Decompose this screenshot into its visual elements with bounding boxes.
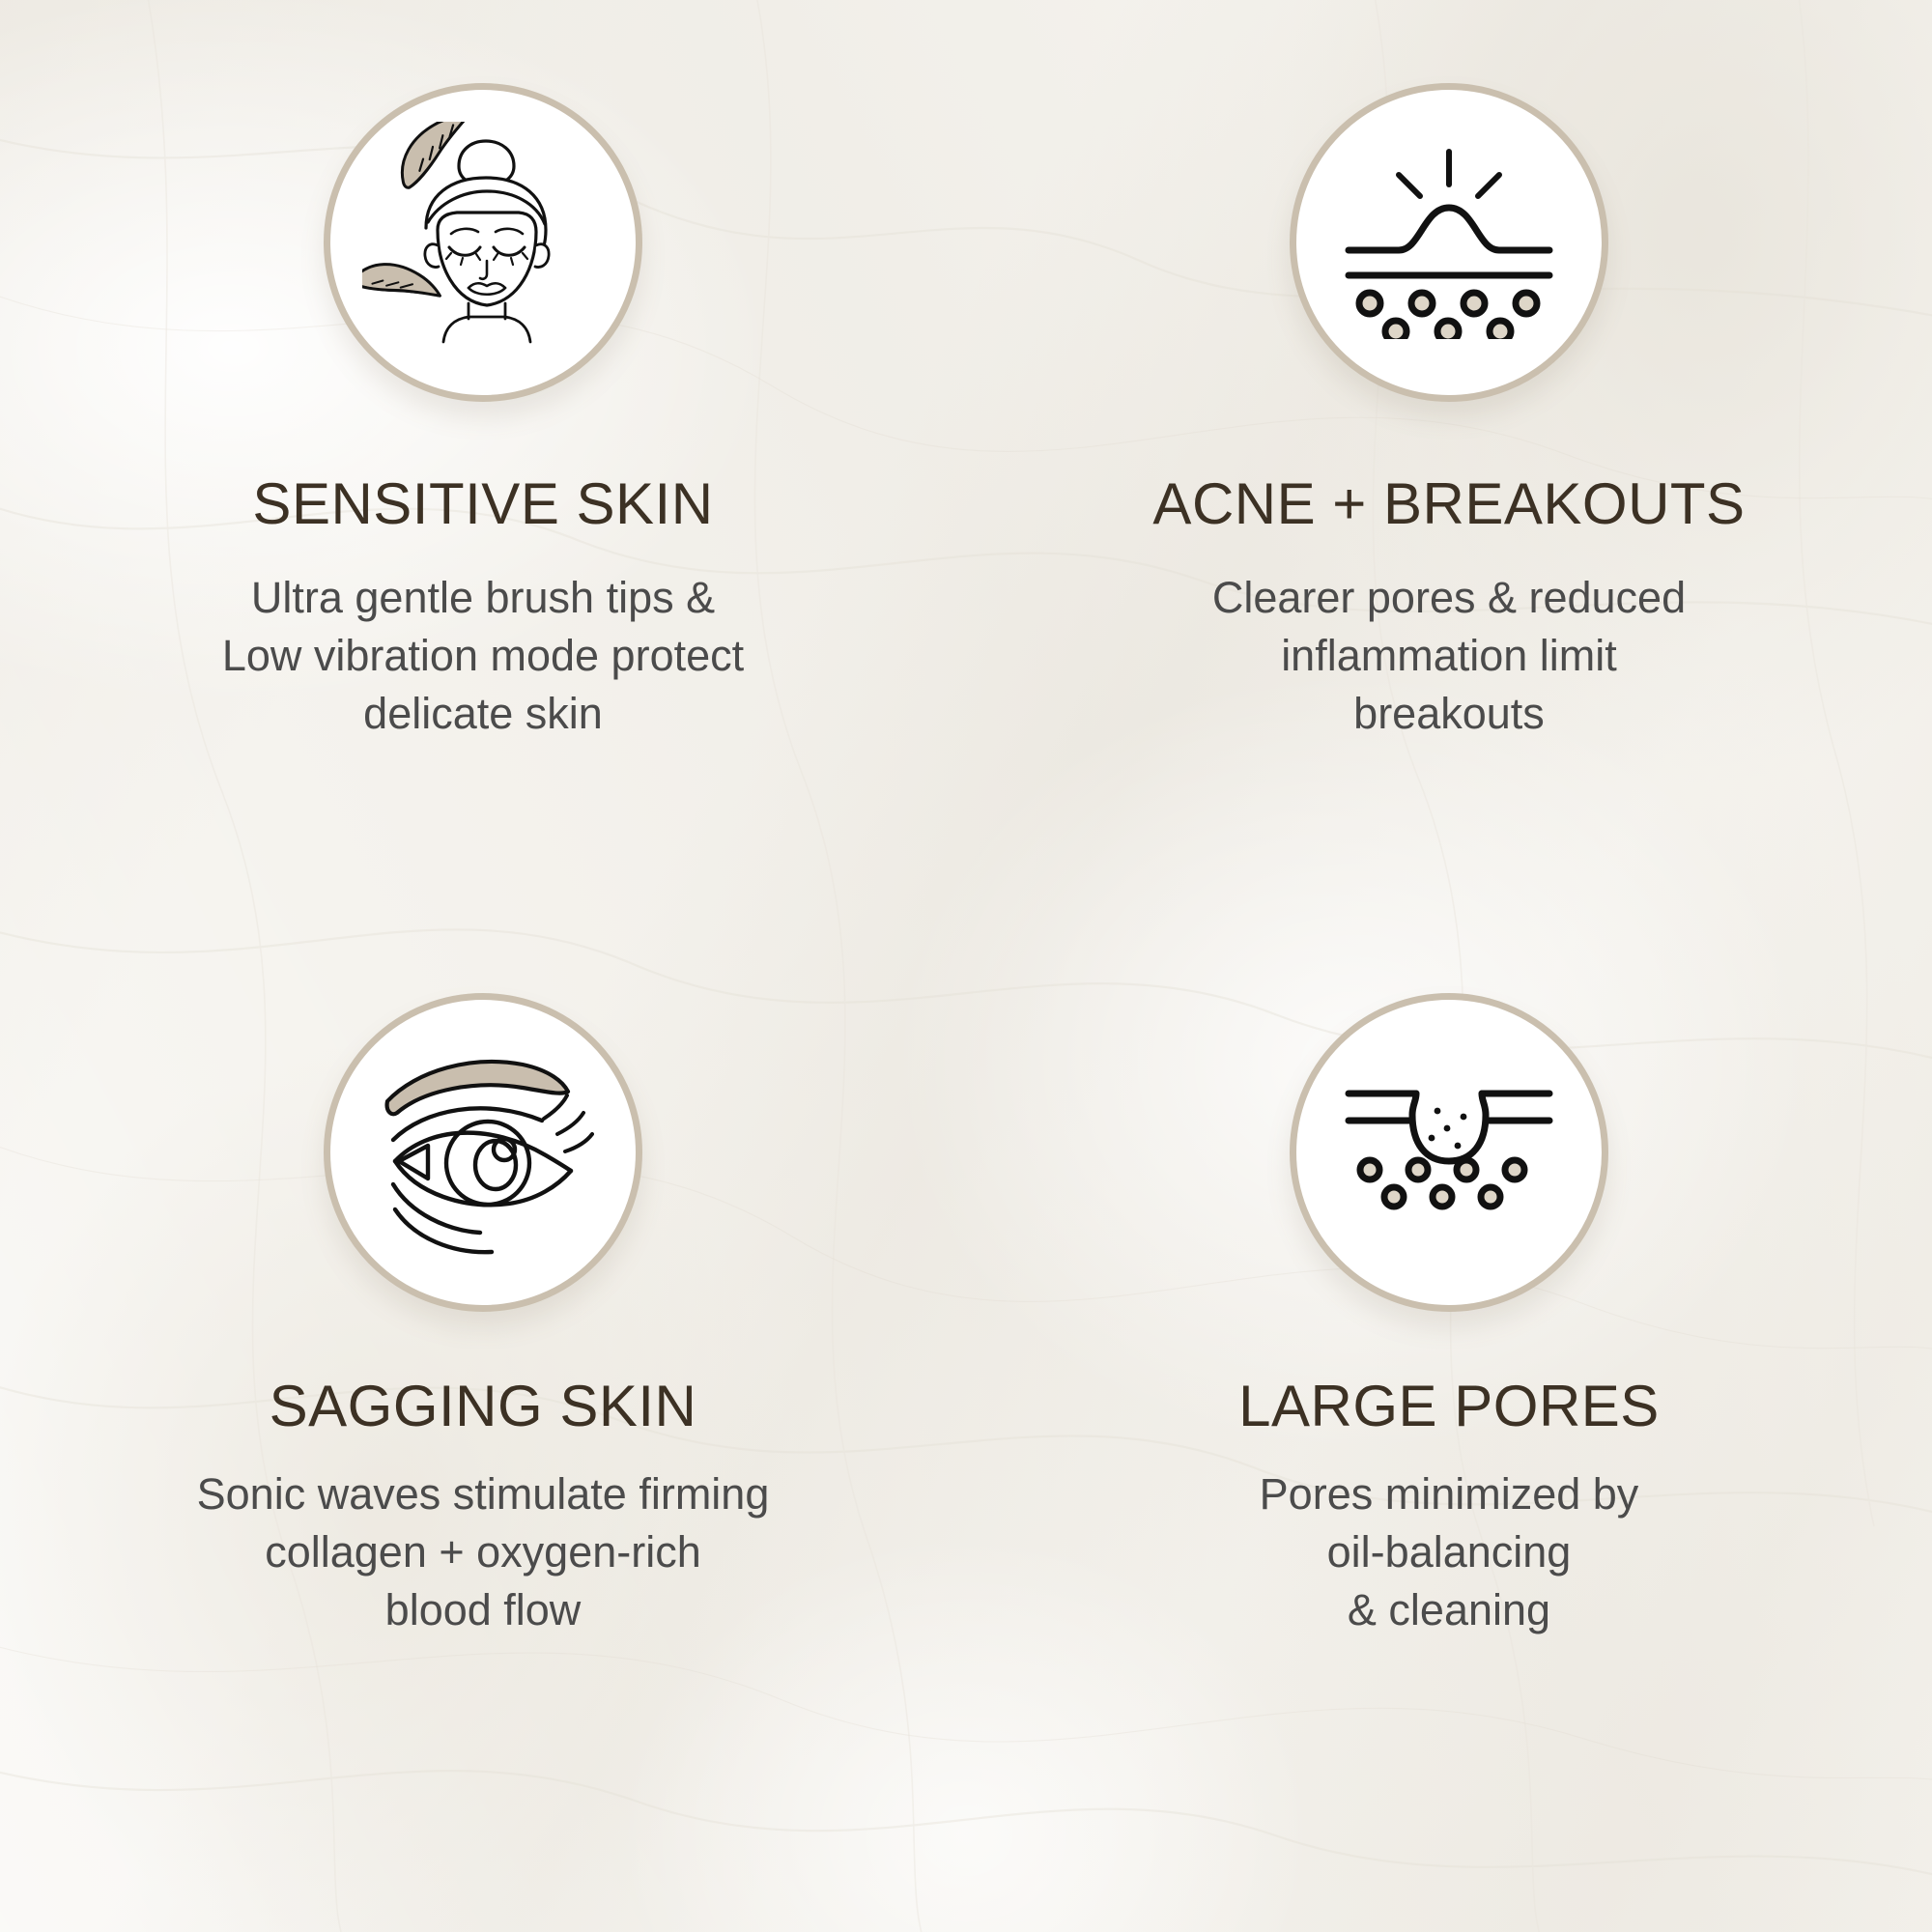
pore-dots-row-2 xyxy=(1384,1187,1500,1207)
card-heading: SENSITIVE SKIN xyxy=(252,473,713,534)
feature-card-sagging-skin: SAGGING SKIN Sonic waves stimulate firmi… xyxy=(0,966,966,1932)
feature-card-large-pores: LARGE PORES Pores minimized by oil-balan… xyxy=(966,966,1932,1932)
pore-dots-row-2 xyxy=(1385,321,1511,339)
skin-pimple-inflammation-icon xyxy=(1343,146,1555,339)
pore-dots-row-1 xyxy=(1359,293,1537,314)
icon-circle-acne-breakouts xyxy=(1290,83,1608,402)
card-heading: SAGGING SKIN xyxy=(270,1376,697,1436)
face-with-feathers-icon xyxy=(362,122,604,363)
feature-card-sensitive-skin: SENSITIVE SKIN Ultra gentle brush tips &… xyxy=(0,0,966,966)
card-description: Clearer pores & reduced inflammation lim… xyxy=(1212,569,1686,743)
card-heading: ACNE + BREAKOUTS xyxy=(1152,473,1745,534)
card-description: Ultra gentle brush tips & Low vibration … xyxy=(222,569,744,743)
pore-dirt-specks xyxy=(1429,1108,1467,1150)
feature-card-acne-breakouts: ACNE + BREAKOUTS Clearer pores & reduced… xyxy=(966,0,1932,966)
feature-grid: SENSITIVE SKIN Ultra gentle brush tips &… xyxy=(0,0,1932,1932)
eye-wrinkles-icon xyxy=(372,1049,594,1257)
icon-circle-large-pores xyxy=(1290,993,1608,1312)
icon-circle-sagging-skin xyxy=(324,993,642,1312)
card-description: Pores minimized by oil-balancing & clean… xyxy=(1260,1465,1639,1639)
clogged-pore-cross-section-icon xyxy=(1343,1061,1555,1244)
card-heading: LARGE PORES xyxy=(1238,1376,1660,1436)
card-description: Sonic waves stimulate firming collagen +… xyxy=(197,1465,770,1639)
icon-circle-sensitive-skin xyxy=(324,83,642,402)
